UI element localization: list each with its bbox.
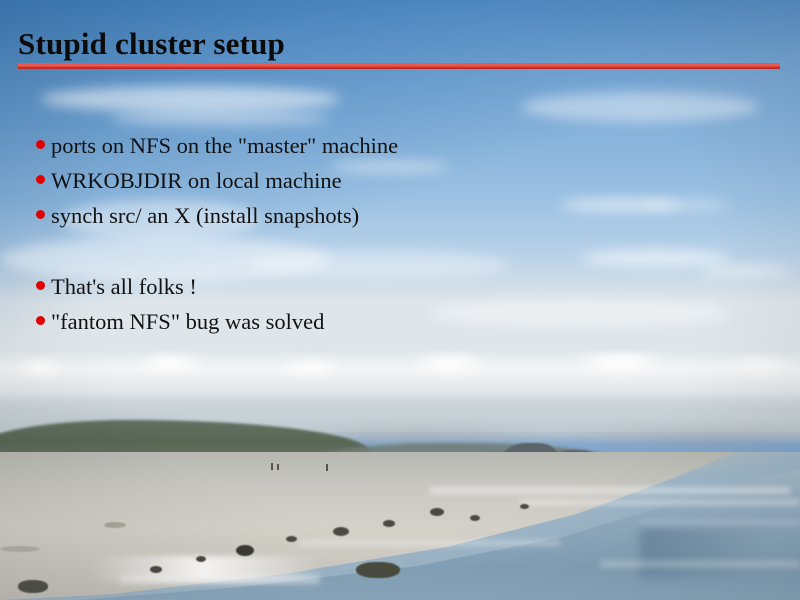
water-sheen <box>520 500 800 505</box>
cloud-wisp <box>40 86 340 112</box>
list-item-label: "fantom NFS" bug was solved <box>51 304 324 339</box>
bullet-list: ports on NFS on the "master" machine WRK… <box>36 128 756 339</box>
beach-debris <box>520 504 529 509</box>
list-item-spacer <box>36 233 756 269</box>
beach-debris <box>236 545 254 556</box>
cloud-wisp <box>110 110 330 126</box>
beach-walker <box>271 463 273 470</box>
list-item: "fantom NFS" bug was solved <box>36 304 756 339</box>
water-sheen <box>430 487 790 494</box>
beach-walker <box>326 464 328 471</box>
round-bullet-icon <box>36 281 45 290</box>
cloud-wisp <box>520 92 760 122</box>
round-bullet-icon <box>36 316 45 325</box>
water-sheen <box>600 560 800 568</box>
list-item: synch src/ an X (install snapshots) <box>36 198 756 233</box>
round-bullet-icon <box>36 175 45 184</box>
title-underline-rule <box>18 63 780 69</box>
beach-debris <box>150 566 162 573</box>
beach-debris <box>333 527 349 536</box>
beach-debris <box>383 520 395 527</box>
list-item: ports on NFS on the "master" machine <box>36 128 756 163</box>
beach-debris <box>196 556 206 562</box>
round-bullet-icon <box>36 210 45 219</box>
water-sheen <box>300 540 560 546</box>
list-item: That's all folks ! <box>36 269 756 304</box>
beach-debris <box>104 522 126 528</box>
list-item-label: WRKOBJDIR on local machine <box>51 163 342 198</box>
beach-debris <box>286 536 297 542</box>
water-sheen <box>640 520 800 525</box>
beach-debris <box>430 508 444 516</box>
slide-canvas: Stupid cluster setup ports on NFS on the… <box>0 0 800 600</box>
beach-debris <box>0 546 40 552</box>
list-item-label: synch src/ an X (install snapshots) <box>51 198 359 233</box>
deep-water-patch <box>640 528 800 578</box>
list-item: WRKOBJDIR on local machine <box>36 163 756 198</box>
beach-walker <box>277 464 279 470</box>
beach-debris <box>18 580 48 593</box>
list-item-label: That's all folks ! <box>51 269 197 304</box>
slide-title: Stupid cluster setup <box>18 26 285 62</box>
list-item-label: ports on NFS on the "master" machine <box>51 128 398 163</box>
beach-debris <box>470 515 480 521</box>
round-bullet-icon <box>36 140 45 149</box>
beach-debris <box>356 562 400 578</box>
